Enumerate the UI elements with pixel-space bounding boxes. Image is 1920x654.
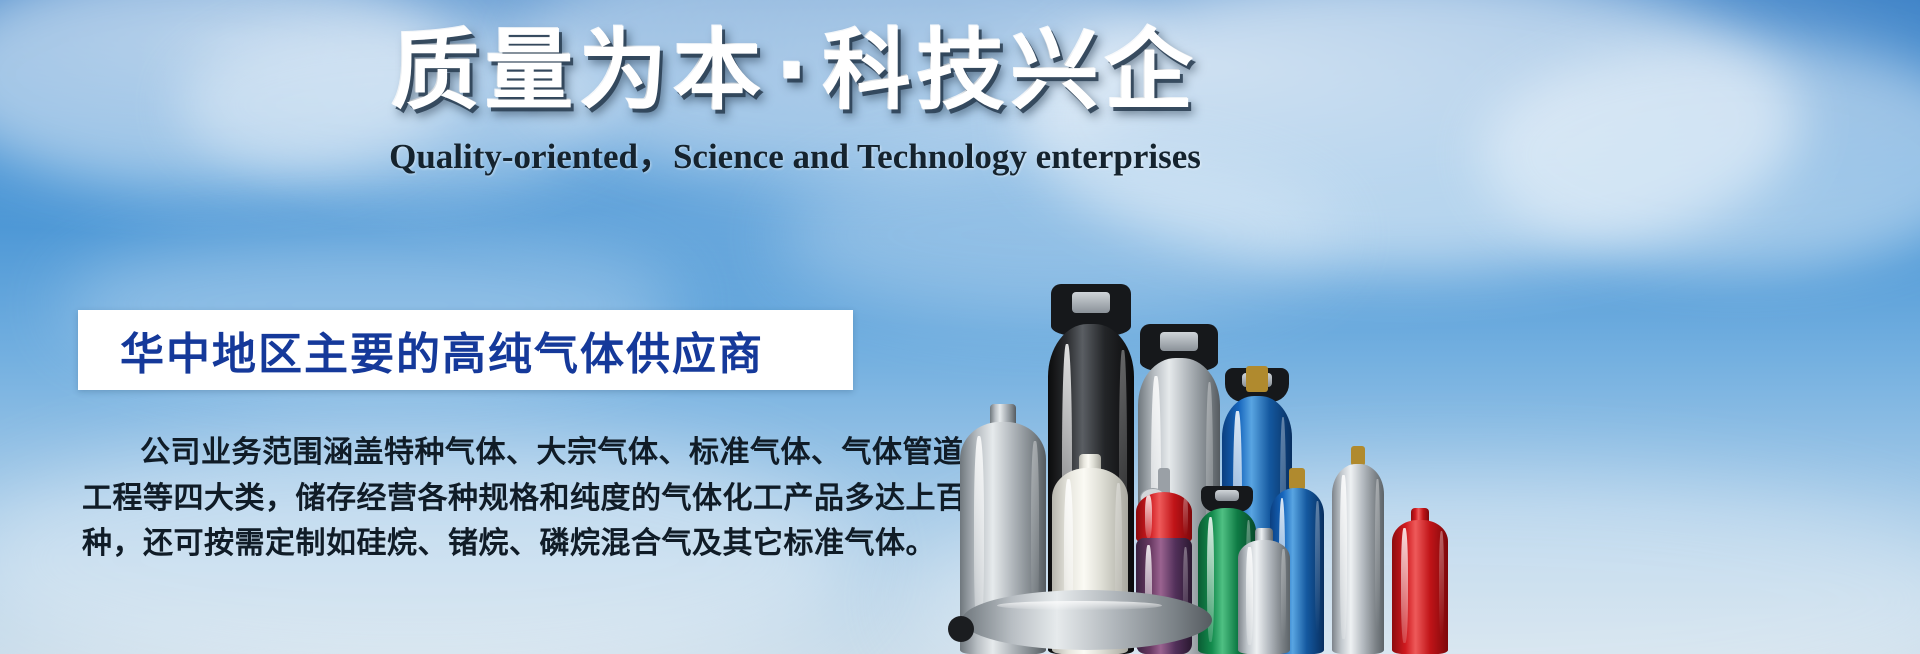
cylinder-body	[1392, 520, 1448, 654]
headline-left: 质量为本	[391, 19, 767, 122]
silver-aluminum-cylinder	[1332, 448, 1384, 654]
banner-paragraph: 公司业务范围涵盖特种气体、大宗气体、标准气体、气体管道 工程等四大类，储存经营各…	[82, 430, 872, 567]
tagline-text: 华中地区主要的高纯气体供应商	[78, 318, 764, 382]
cylinder-body	[1332, 464, 1384, 654]
cylinder-shoulder	[1136, 492, 1192, 542]
brass-valve-icon	[1289, 468, 1305, 490]
red-aluminum-cylinder	[1392, 508, 1448, 654]
paragraph-line-3: 种，还可按需定制如硅烷、锗烷、磷烷混合气及其它标准气体。	[82, 521, 872, 567]
paragraph-line-1: 公司业务范围涵盖特种气体、大宗气体、标准气体、气体管道	[82, 430, 872, 476]
gas-company-banner: 质量为本·科技兴企 Quality-oriented，Science and T…	[0, 0, 1920, 654]
grey-horizontal-tank	[962, 590, 1212, 650]
paragraph-line-2: 工程等四大类，储存经营各种规格和纯度的气体化工产品多达上百	[82, 476, 872, 522]
cylinder-body	[1238, 540, 1290, 654]
brass-valve-icon	[1246, 366, 1268, 392]
banner-headline: 质量为本·科技兴企	[330, 22, 1260, 121]
headline-right: 科技兴企	[823, 19, 1199, 122]
silver-aluminum-cylinder	[1238, 528, 1290, 654]
gas-cylinder-group-photo	[940, 150, 1560, 654]
tank-valve-icon	[948, 616, 974, 642]
tagline-box: 华中地区主要的高纯气体供应商	[78, 310, 853, 390]
brass-valve-icon	[1351, 446, 1365, 466]
headline-separator: ·	[767, 19, 822, 122]
